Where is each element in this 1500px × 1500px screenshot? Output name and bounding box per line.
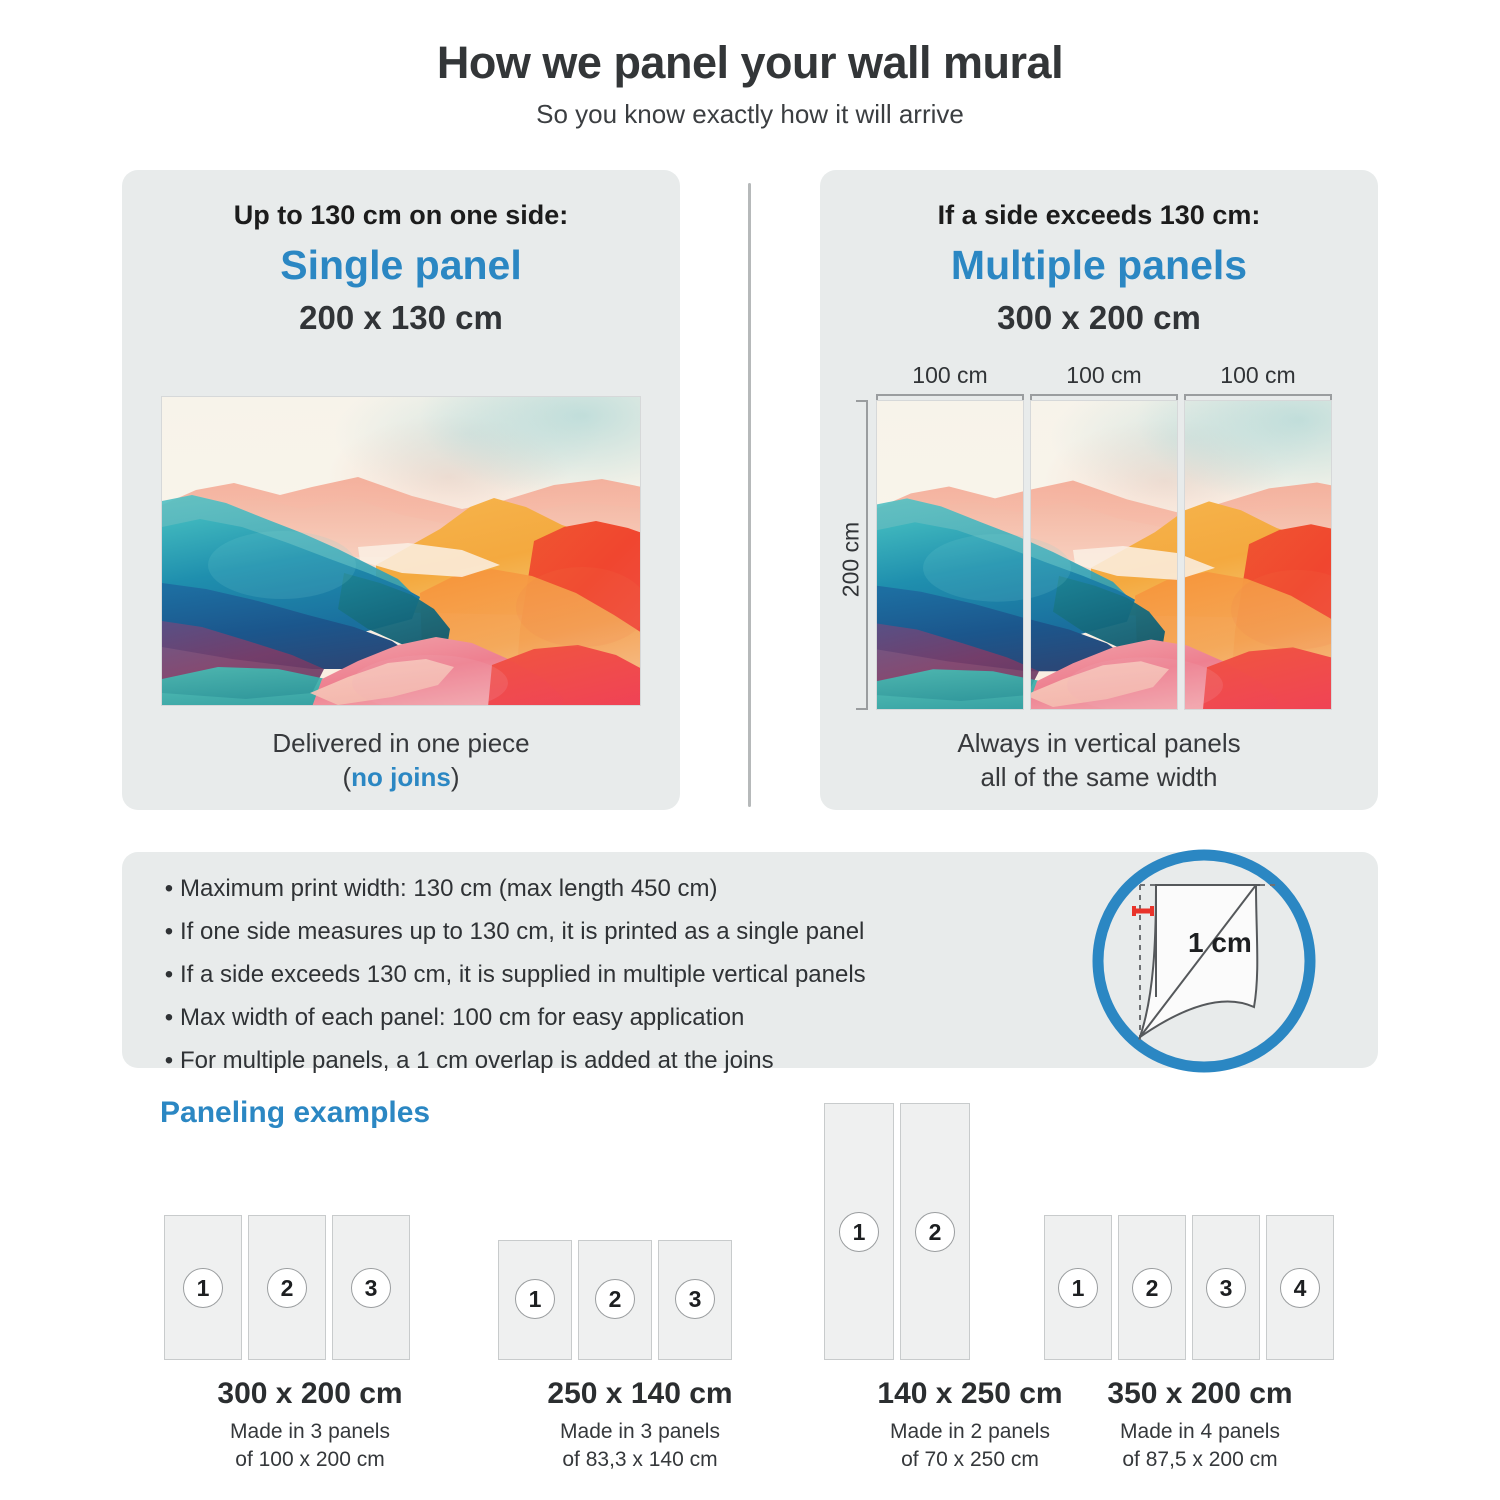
header: How we panel your wall mural So you know… [0,38,1500,128]
panel-number: 3 [351,1268,391,1308]
example-sub-line2: of 100 x 200 cm [120,1446,500,1474]
panel-block: 2 [1118,1215,1186,1360]
artwork-slice [877,401,1024,709]
example-title: 300 x 200 cm [120,1377,500,1410]
example-sub-line1: Made in 3 panels [450,1418,830,1446]
bullet-icon: • [158,962,180,989]
single-panel-artwork [161,396,641,706]
example-subtitle: Made in 3 panels of 100 x 200 cm [120,1418,500,1475]
bullet-icon: • [158,876,180,903]
spec-text: For multiple panels, a 1 cm overlap is a… [180,1048,1058,1075]
panel-layout-diagram: 1 2 3 4 [1010,1215,1390,1360]
multiple-panels-caption-line2: all of the same width [820,760,1378,794]
panel-number: 2 [1132,1268,1172,1308]
example-sub-line1: Made in 4 panels [1010,1418,1390,1446]
no-joins-highlight: no joins [351,762,451,792]
height-label: 200 cm [840,515,863,605]
multiple-panels-caption: Always in vertical panels all of the sam… [820,726,1378,795]
panel-number: 1 [515,1279,555,1319]
bracket-bar [876,394,1024,396]
width-label-2: 100 cm [1026,364,1182,387]
overlap-diagram-icon [1088,845,1320,1077]
panel-number: 2 [595,1279,635,1319]
paneling-examples-heading: Paneling examples [160,1098,430,1128]
cards-divider [748,183,751,807]
panel-block: 3 [332,1215,410,1360]
bullet-icon: • [158,1048,180,1075]
page-subtitle: So you know exactly how it will arrive [0,100,1500,129]
panel-block: 1 [498,1240,572,1360]
list-item: • If a side exceeds 130 cm, it is suppli… [158,962,1058,989]
multiple-panels-caption-line1: Always in vertical panels [820,726,1378,760]
overlap-detail-circle: 1 cm [1088,845,1320,1077]
list-item: • Maximum print width: 130 cm (max lengt… [158,876,1058,903]
panel-block: 3 [658,1240,732,1360]
panel-block: 2 [900,1103,970,1360]
panel-number: 3 [675,1279,715,1319]
panel-block: 1 [164,1215,242,1360]
bullet-icon: • [158,1005,180,1032]
panel-block: 2 [578,1240,652,1360]
multiple-panels-headline: Multiple panels [820,243,1378,288]
multiple-panels-card: If a side exceeds 130 cm: Multiple panel… [820,170,1378,810]
example-sub-line2: of 87,5 x 200 cm [1010,1446,1390,1474]
single-panel-headline: Single panel [122,243,680,288]
spec-text: If a side exceeds 130 cm, it is supplied… [180,962,1058,989]
width-label-1: 100 cm [872,364,1028,387]
multiple-panels-size: 300 x 200 cm [820,300,1378,336]
artwork-panel-2 [1030,400,1178,710]
overlap-label: 1 cm [1188,929,1252,957]
bracket-tick-bottom [856,708,868,710]
example-sub-line1: Made in 3 panels [120,1418,500,1446]
page-title: How we panel your wall mural [0,38,1500,88]
panel-layout-diagram: 1 2 3 [450,1240,830,1360]
bullet-icon: • [158,919,180,946]
bracket-bar [1030,394,1178,396]
bracket-bar [866,400,868,710]
artwork-panel-1 [876,400,1024,710]
panel-number: 1 [183,1268,223,1308]
panel-number: 1 [839,1212,879,1252]
spec-text: Maximum print width: 130 cm (max length … [180,876,1058,903]
bracket-bar [1184,394,1332,396]
single-panel-caption-line1: Delivered in one piece [122,726,680,760]
panel-layout-diagram: 1 2 3 [120,1215,500,1360]
example-subtitle: Made in 4 panels of 87,5 x 200 cm [1010,1418,1390,1475]
panel-block: 1 [1044,1215,1112,1360]
panel-number: 4 [1280,1268,1320,1308]
panel-number: 2 [267,1268,307,1308]
specs-list: • Maximum print width: 130 cm (max lengt… [158,876,1058,1090]
list-item: • Max width of each panel: 100 cm for ea… [158,1005,1058,1032]
caption-paren-open: ( [342,762,351,792]
artwork-mountains [162,397,641,706]
spec-text: Max width of each panel: 100 cm for easy… [180,1005,1058,1032]
list-item: • For multiple panels, a 1 cm overlap is… [158,1048,1058,1075]
single-panel-kicker: Up to 130 cm on one side: [122,200,680,231]
multiple-panels-artwork [876,400,1332,710]
multiple-panels-kicker: If a side exceeds 130 cm: [820,200,1378,231]
artwork-slice [1030,401,1178,709]
list-item: • If one side measures up to 130 cm, it … [158,919,1058,946]
spec-text: If one side measures up to 130 cm, it is… [180,919,1058,946]
panel-number: 2 [915,1212,955,1252]
example-sub-line2: of 83,3 x 140 cm [450,1446,830,1474]
artwork-slice [1184,401,1332,709]
panel-block: 3 [1192,1215,1260,1360]
single-panel-caption-line2: (no joins) [122,760,680,794]
bracket-tick-top [856,400,868,402]
single-panel-caption: Delivered in one piece (no joins) [122,726,680,795]
example-title: 350 x 200 cm [1010,1377,1390,1410]
caption-paren-close: ) [451,762,460,792]
width-label-3: 100 cm [1180,364,1336,387]
example-title: 250 x 140 cm [450,1377,830,1410]
panel-number: 1 [1058,1268,1098,1308]
panel-block: 4 [1266,1215,1334,1360]
panel-number: 3 [1206,1268,1246,1308]
panel-block: 2 [248,1215,326,1360]
single-panel-card: Up to 130 cm on one side: Single panel 2… [122,170,680,810]
single-panel-size: 200 x 130 cm [122,300,680,336]
panel-block: 1 [824,1103,894,1360]
artwork-panel-3 [1184,400,1332,710]
example-subtitle: Made in 3 panels of 83,3 x 140 cm [450,1418,830,1475]
infographic-page: How we panel your wall mural So you know… [0,0,1500,1500]
